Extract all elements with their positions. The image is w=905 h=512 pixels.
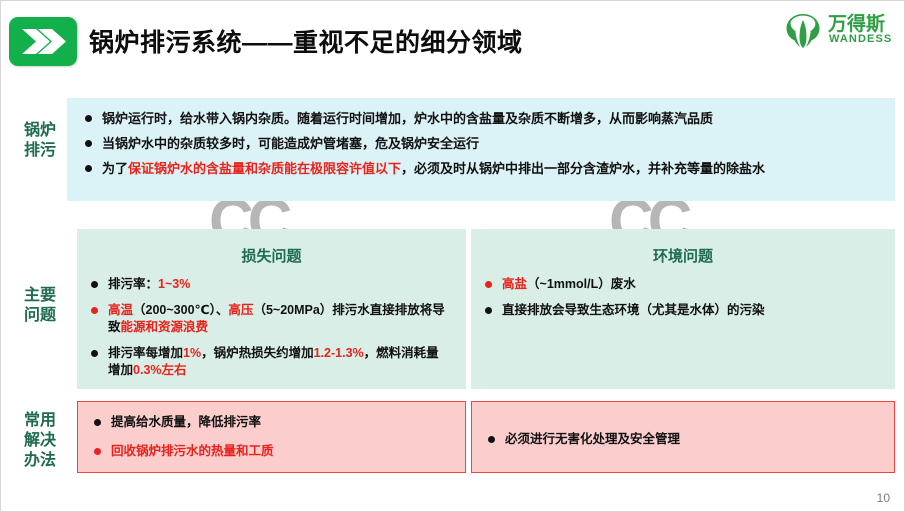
row-label-line: 主要 bbox=[11, 286, 69, 306]
row-label-line: 解决 bbox=[11, 431, 69, 451]
bullet-list: 锅炉运行时，给水带入锅内杂质。随着运行时间增加，炉水中的含盐量及杂质不断增多，从… bbox=[67, 98, 895, 177]
double-chevron-right-icon bbox=[9, 17, 77, 66]
slide-header: 锅炉排污系统——重视不足的细分领域 万得斯 WANDESS bbox=[1, 1, 905, 81]
list-item: 回收锅炉排污水的热量和工质 bbox=[90, 443, 451, 460]
loss-problem-box: 损失问题 排污率：1~3%高温（200~300℃）、高压（5~20MPa）排污水… bbox=[77, 229, 466, 389]
list-item: 高温（200~300℃）、高压（5~20MPa）排污水直接排放将导致能源和资源浪… bbox=[87, 302, 450, 336]
bullet-list: 排污率：1~3%高温（200~300℃）、高压（5~20MPa）排污水直接排放将… bbox=[77, 276, 466, 379]
row-label-line: 问题 bbox=[11, 306, 69, 326]
highlighted-text: 高压 bbox=[228, 303, 253, 317]
list-item: 排污率每增加1%，锅炉热损失约增加1.2-1.3%，燃料消耗量增加0.3%左右 bbox=[87, 345, 450, 379]
highlighted-text: 高盐 bbox=[502, 277, 527, 291]
highlighted-text: 能源和资源浪费 bbox=[121, 320, 209, 334]
company-logo: 万得斯 WANDESS bbox=[782, 9, 894, 51]
row-label-boiler-blowdown: 锅炉 排污 bbox=[11, 121, 69, 161]
body-text: （~1mmol/L）废水 bbox=[527, 277, 636, 291]
highlighted-text: 1% bbox=[183, 346, 201, 360]
list-item: 当锅炉水中的杂质较多时，可能造成炉管堵塞，危及锅炉安全运行 bbox=[81, 135, 877, 152]
body-text: （200~300℃）、 bbox=[133, 303, 228, 317]
row-label-line: 排污 bbox=[11, 141, 69, 161]
body-text: 当锅炉水中的杂质较多时，可能造成炉管堵塞，危及锅炉安全运行 bbox=[102, 136, 479, 151]
bullet-list: 必须进行无害化处理及安全管理 bbox=[472, 402, 894, 448]
row-label-line: 办法 bbox=[11, 451, 69, 471]
row-label-common-solutions: 常用 解决 办法 bbox=[11, 411, 69, 471]
row-label-main-problems: 主要 问题 bbox=[11, 286, 69, 326]
highlighted-text: 保证锅炉水的含盐量和杂质能在极限容许值以下 bbox=[128, 161, 401, 176]
body-text: 锅炉运行时，给水带入锅内杂质。随着运行时间增加，炉水中的含盐量及杂质不断增多，从… bbox=[102, 111, 713, 126]
environment-problem-box: 环境问题 高盐（~1mmol/L）废水直接排放会导致生态环境（尤其是水体）的污染 bbox=[471, 229, 895, 389]
page-title: 锅炉排污系统——重视不足的细分领域 bbox=[89, 23, 523, 59]
list-item: 提高给水质量，降低排污率 bbox=[90, 414, 451, 431]
body-text: ，锅炉热损失约增加 bbox=[201, 346, 314, 360]
list-item: 排污率：1~3% bbox=[87, 276, 450, 293]
loss-problem-heading: 损失问题 bbox=[77, 245, 466, 266]
bullet-list: 高盐（~1mmol/L）废水直接排放会导致生态环境（尤其是水体）的污染 bbox=[471, 276, 895, 319]
body-text: 直接排放会导致生态环境（尤其是水体）的污染 bbox=[502, 303, 765, 317]
body-text: 排污率每增加 bbox=[108, 346, 183, 360]
body-text: 排污率： bbox=[108, 277, 158, 291]
highlighted-text: 1.2-1.3% bbox=[314, 346, 364, 360]
list-item: 锅炉运行时，给水带入锅内杂质。随着运行时间增加，炉水中的含盐量及杂质不断增多，从… bbox=[81, 110, 877, 127]
body-text: 必须进行无害化处理及安全管理 bbox=[505, 432, 680, 446]
highlighted-text: 0.3%左右 bbox=[133, 363, 187, 377]
highlighted-text: 高温 bbox=[108, 303, 133, 317]
solution-left-box: 提高给水质量，降低排污率回收锅炉排污水的热量和工质 bbox=[77, 401, 466, 473]
environment-problem-heading: 环境问题 bbox=[471, 245, 895, 266]
list-item: 直接排放会导致生态环境（尤其是水体）的污染 bbox=[481, 302, 879, 319]
list-item: 高盐（~1mmol/L）废水 bbox=[481, 276, 879, 293]
logo-name-en: WANDESS bbox=[829, 33, 892, 45]
bullet-list: 提高给水质量，降低排污率回收锅炉排污水的热量和工质 bbox=[78, 402, 465, 460]
page-number: 10 bbox=[877, 491, 890, 505]
logo-name-cn: 万得斯 bbox=[828, 9, 885, 36]
body-text: 为了 bbox=[102, 161, 128, 176]
highlighted-text: 1~3% bbox=[158, 277, 190, 291]
list-item: 必须进行无害化处理及安全管理 bbox=[484, 431, 880, 448]
row-label-line: 常用 bbox=[11, 411, 69, 431]
list-item: 为了保证锅炉水的含盐量和杂质能在极限容许值以下，必须及时从锅炉中排出一部分含渣炉… bbox=[81, 160, 877, 177]
highlighted-text: 回收锅炉排污水的热量和工质 bbox=[111, 444, 274, 458]
slide-canvas: 锅炉排污系统——重视不足的细分领域 万得斯 WANDESS 锅炉 排污 主要 问… bbox=[0, 0, 905, 512]
body-text: 提高给水质量，降低排污率 bbox=[111, 415, 261, 429]
solution-right-box: 必须进行无害化处理及安全管理 bbox=[471, 401, 895, 473]
boiler-blowdown-info-box: 锅炉运行时，给水带入锅内杂质。随着运行时间增加，炉水中的含盐量及杂质不断增多，从… bbox=[67, 98, 895, 201]
wandess-plant-logo-icon bbox=[782, 11, 824, 54]
row-label-line: 锅炉 bbox=[11, 121, 69, 141]
body-text: ，必须及时从锅炉中排出一部分含渣炉水，并补充等量的除盐水 bbox=[401, 161, 765, 176]
